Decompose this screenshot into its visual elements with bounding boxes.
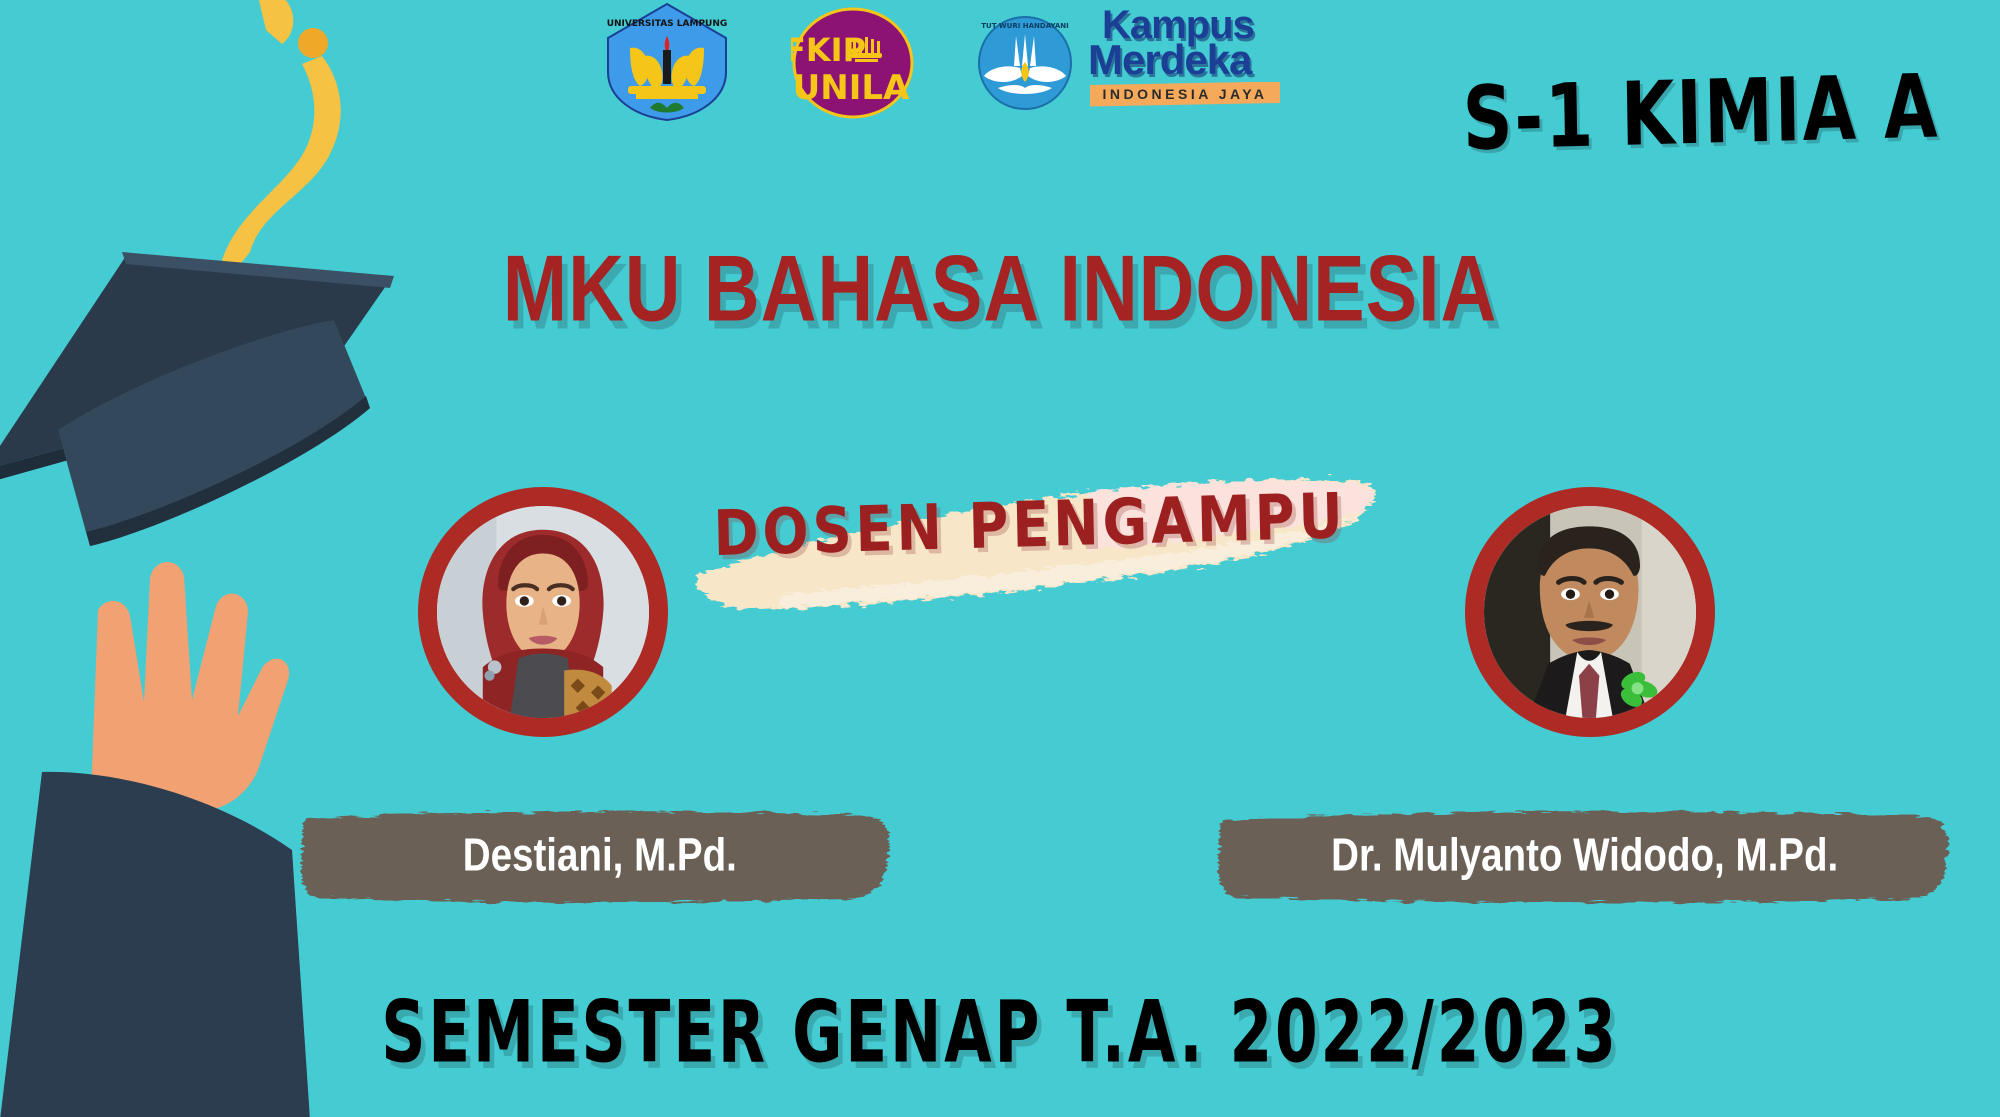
lecturer-1-avatar [437,506,649,718]
lecturer-nameplate-2: Dr. Mulyanto Widodo, M.Pd. [1215,805,1955,905]
logo-row: UNIVERSITAS LAMPUNG FKIP UNILA [600,2,1289,127]
indonesia-jaya-ribbon: INDONESIA JAYA [1090,82,1280,107]
lecturer-2-avatar [1484,506,1696,718]
lecturer-photo-1 [418,487,668,737]
unila-ring-text: UNIVERSITAS LAMPUNG [607,19,728,29]
tut-wuri-handayani-logo: TUT WURI HANDAYANI [916,2,1074,117]
indonesia-jaya-text: INDONESIA JAYA [1103,86,1268,102]
hand-icon [92,562,289,812]
tutwuri-ring-text: TUT WURI HANDAYANI [981,22,1068,30]
semester-label: SEMESTER GENAP T.A. 2022/2023 [70,990,1930,1076]
tassel-icon [222,0,341,272]
page-title: MKU BAHASA INDONESIA [80,234,1920,343]
lecturer-nameplate-1: Destiani, M.Pd. [300,805,900,905]
universitas-lampung-logo: UNIVERSITAS LAMPUNG [600,2,735,127]
section-banner: DOSEN PENGAMPU [660,455,1400,630]
lecturer-name-2: Dr. Mulyanto Widodo, M.Pd. [1331,829,1838,882]
unila-text: UNILA [793,68,910,108]
slide-canvas: UNIVERSITAS LAMPUNG FKIP UNILA [0,0,2000,1117]
lecturer-photo-2 [1465,487,1715,737]
lecturer-name-1: Destiani, M.Pd. [463,829,737,882]
kampus-merdeka-line2: Merdeka [1088,42,1289,78]
kampus-merdeka-logo: Kampus Merdeka INDONESIA JAYA [1084,8,1289,113]
fkip-unila-logo: FKIP UNILA [735,2,916,124]
class-label: S-1 KIMIA A [1462,62,1940,163]
